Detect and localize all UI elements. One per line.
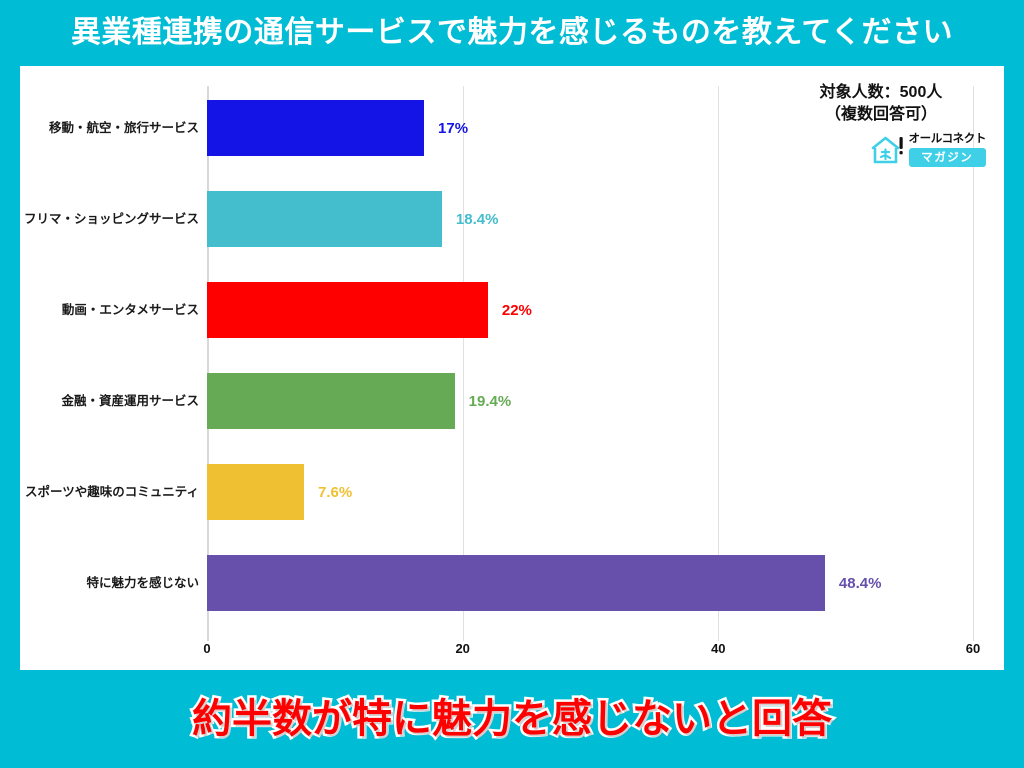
caption-text: 約半数が特に魅力を感じないと回答 [192,699,832,739]
infographic-page: 異業種連携の通信サービスで魅力を感じるものを教えてください 移動・航空・旅行サー… [0,0,1024,768]
bar-4 [207,464,304,520]
bar-row: スポーツや趣味のコミュニティ 7.6% [207,464,352,520]
category-label: 金融・資産運用サービス [19,373,199,429]
bar-value-label: 18.4% [456,211,499,228]
bar-1 [207,191,442,247]
bar-2 [207,282,488,338]
page-title: 異業種連携の通信サービスで魅力を感じるものを教えてください [71,18,953,48]
category-label: 特に魅力を感じない [19,555,199,611]
bar-value-label: 19.4% [469,393,512,410]
gridline-60 [973,86,974,641]
bar-chart-plot-area: 移動・航空・旅行サービス 17% フリマ・ショッピングサービス 18.4% 動画… [207,86,974,641]
category-label: スポーツや趣味のコミュニティ [19,464,199,520]
bar-5 [207,555,825,611]
sample-size-text: 対象人数：500人 [776,82,986,104]
sample-size-annotation: 対象人数：500人 （複数回答可） オールコネクト マガジン [776,82,986,167]
bar-0 [207,100,424,156]
chart-panel: 移動・航空・旅行サービス 17% フリマ・ショッピングサービス 18.4% 動画… [20,66,1004,670]
multiple-answer-note: （複数回答可） [776,104,986,126]
bar-row: 特に魅力を感じない 48.4% [207,555,881,611]
bar-value-label: 22% [502,302,532,319]
bar-3 [207,373,455,429]
category-label: フリマ・ショッピングサービス [19,191,199,247]
bar-row: 金融・資産運用サービス 19.4% [207,373,511,429]
logo-badge: マガジン [909,148,986,167]
logo-name: オールコネクト [909,133,986,146]
bar-value-label: 48.4% [839,575,882,592]
category-label: 動画・エンタメサービス [19,282,199,338]
bar-value-label: 17% [438,120,468,137]
footer-bar: 約半数が特に魅力を感じないと回答 [0,670,1024,768]
bar-row: 移動・航空・旅行サービス 17% [207,100,468,156]
x-tick-label: 20 [455,641,469,656]
brand-logo: オールコネクト マガジン [776,133,986,167]
header-bar: 異業種連携の通信サービスで魅力を感じるものを教えてください [0,0,1024,66]
bar-value-label: 7.6% [318,484,352,501]
logo-text-group: オールコネクト マガジン [909,133,986,167]
caption-box: 約半数が特に魅力を感じないと回答 [24,683,1000,755]
house-exclamation-icon [870,135,904,165]
x-tick-label: 0 [203,641,210,656]
category-label: 移動・航空・旅行サービス [19,100,199,156]
bar-row: フリマ・ショッピングサービス 18.4% [207,191,498,247]
x-tick-label: 40 [711,641,725,656]
x-tick-label: 60 [966,641,980,656]
x-axis: 0 20 40 60 [207,641,974,671]
bar-row: 動画・エンタメサービス 22% [207,282,532,338]
